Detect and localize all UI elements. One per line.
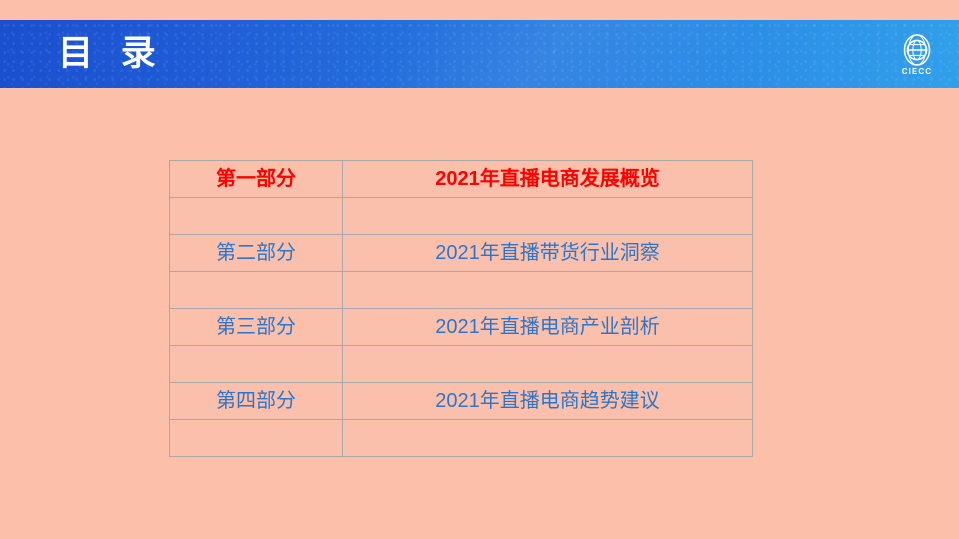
spacer-cell-left bbox=[170, 272, 343, 309]
spacer-cell-right bbox=[343, 198, 753, 235]
globe-icon bbox=[900, 33, 934, 67]
spacer-cell-left bbox=[170, 346, 343, 383]
toc-part-cell[interactable]: 第三部分 bbox=[170, 309, 343, 346]
table-row[interactable]: 第三部分 2021年直播电商产业剖析 bbox=[170, 309, 753, 346]
toc-title-cell[interactable]: 2021年直播电商趋势建议 bbox=[343, 383, 753, 420]
table-row[interactable]: 第一部分 2021年直播电商发展概览 bbox=[170, 161, 753, 198]
spacer-cell-left bbox=[170, 198, 343, 235]
spacer-cell-right bbox=[343, 346, 753, 383]
table-row[interactable]: 第四部分 2021年直播电商趋势建议 bbox=[170, 383, 753, 420]
spacer-cell-left bbox=[170, 420, 343, 457]
page-title: 目 录 bbox=[58, 36, 165, 71]
toc-part-cell[interactable]: 第二部分 bbox=[170, 235, 343, 272]
banner-sheen bbox=[384, 20, 747, 88]
table-row[interactable]: 第二部分 2021年直播带货行业洞察 bbox=[170, 235, 753, 272]
spacer-cell-right bbox=[343, 272, 753, 309]
toc-title-label: 2021年直播电商趋势建议 bbox=[435, 390, 660, 412]
contents-table: 第一部分 2021年直播电商发展概览 第二部分 2021年直播带货行业洞察 第三… bbox=[169, 160, 753, 457]
toc-part-label: 第三部分 bbox=[216, 316, 296, 338]
toc-title-label: 2021年直播带货行业洞察 bbox=[435, 242, 660, 264]
toc-title-label: 2021年直播电商产业剖析 bbox=[435, 316, 660, 338]
toc-part-cell[interactable]: 第一部分 bbox=[170, 161, 343, 198]
toc-title-cell[interactable]: 2021年直播电商发展概览 bbox=[343, 161, 753, 198]
toc-title-cell[interactable]: 2021年直播电商产业剖析 bbox=[343, 309, 753, 346]
toc-part-label: 第二部分 bbox=[216, 242, 296, 264]
toc-title-label: 2021年直播电商发展概览 bbox=[435, 168, 660, 190]
table-spacer-row bbox=[170, 420, 753, 457]
logo-wordmark: CIECC bbox=[902, 68, 932, 76]
toc-title-cell[interactable]: 2021年直播带货行业洞察 bbox=[343, 235, 753, 272]
toc-part-cell[interactable]: 第四部分 bbox=[170, 383, 343, 420]
spacer-cell-right bbox=[343, 420, 753, 457]
table-spacer-row bbox=[170, 346, 753, 383]
table-spacer-row bbox=[170, 198, 753, 235]
toc-part-label: 第一部分 bbox=[216, 168, 296, 190]
brand-logo: CIECC bbox=[891, 28, 943, 80]
header-banner: 目 录 CIECC bbox=[0, 20, 959, 88]
toc-part-label: 第四部分 bbox=[216, 390, 296, 412]
table-spacer-row bbox=[170, 272, 753, 309]
